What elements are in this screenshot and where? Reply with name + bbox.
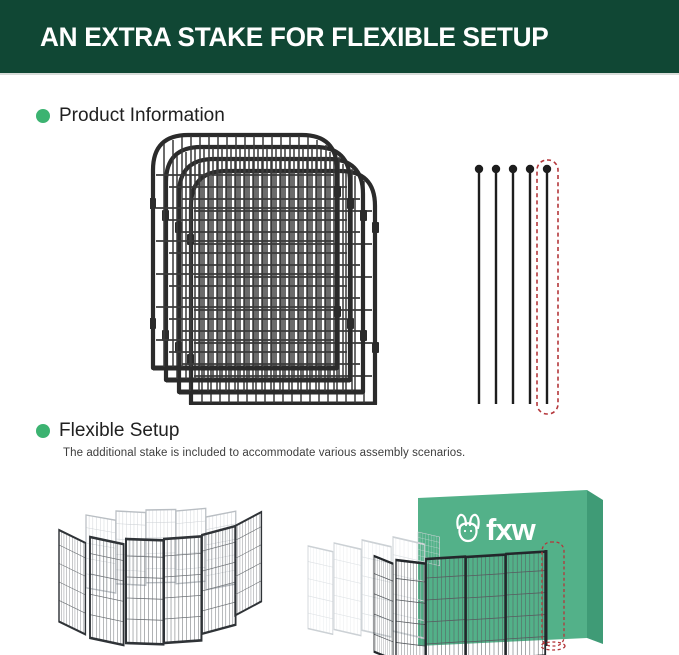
section-subtitle: The additional stake is included to acco… [63,447,465,459]
playpen-panel-front-6 [235,512,261,615]
stake-5-extra [543,165,551,404]
stake-2 [492,165,500,404]
header-divider [0,73,679,75]
stake-3 [509,165,517,404]
wall-mounted-setup: fxw [300,488,610,655]
infographic-page: AN EXTRA STAKE FOR FLEXIBLE SETUP Produc… [0,0,679,655]
playpen-panel-back-3 [146,509,176,582]
playpen-panel-front-1 [59,530,85,634]
playpen-panel-front-2 [90,537,124,645]
playpen-panel-front-3 [126,539,163,644]
octagon-playpen [28,490,290,648]
fence-panel-left-return [374,556,393,655]
section-title: Product Information [59,105,225,127]
ghost-panel-1 [308,546,333,634]
playpen-panel-back-2 [116,511,146,585]
section-title: Flexible Setup [59,420,179,442]
header-band: AN EXTRA STAKE FOR FLEXIBLE SETUP [0,0,679,73]
green-dot-icon [36,109,50,123]
playpen-panel-back-5 [206,511,236,590]
ghost-panel-2 [334,543,361,636]
ground-stakes-group [460,155,570,420]
ghost-panel-3 [362,540,391,637]
green-dot-icon [36,424,50,438]
brand-wordmark: fxw [486,512,537,547]
playpen-panel-front-4 [164,536,201,643]
page-title: AN EXTRA STAKE FOR FLEXIBLE SETUP [40,22,548,53]
stake-1 [475,165,483,404]
section-heading-flexible-setup: Flexible Setup [36,420,179,442]
stacked-fence-panels [150,130,380,405]
playpen-panel-front-5 [202,526,236,634]
section-heading-product-information: Product Information [36,105,225,127]
stake-4 [526,165,534,404]
